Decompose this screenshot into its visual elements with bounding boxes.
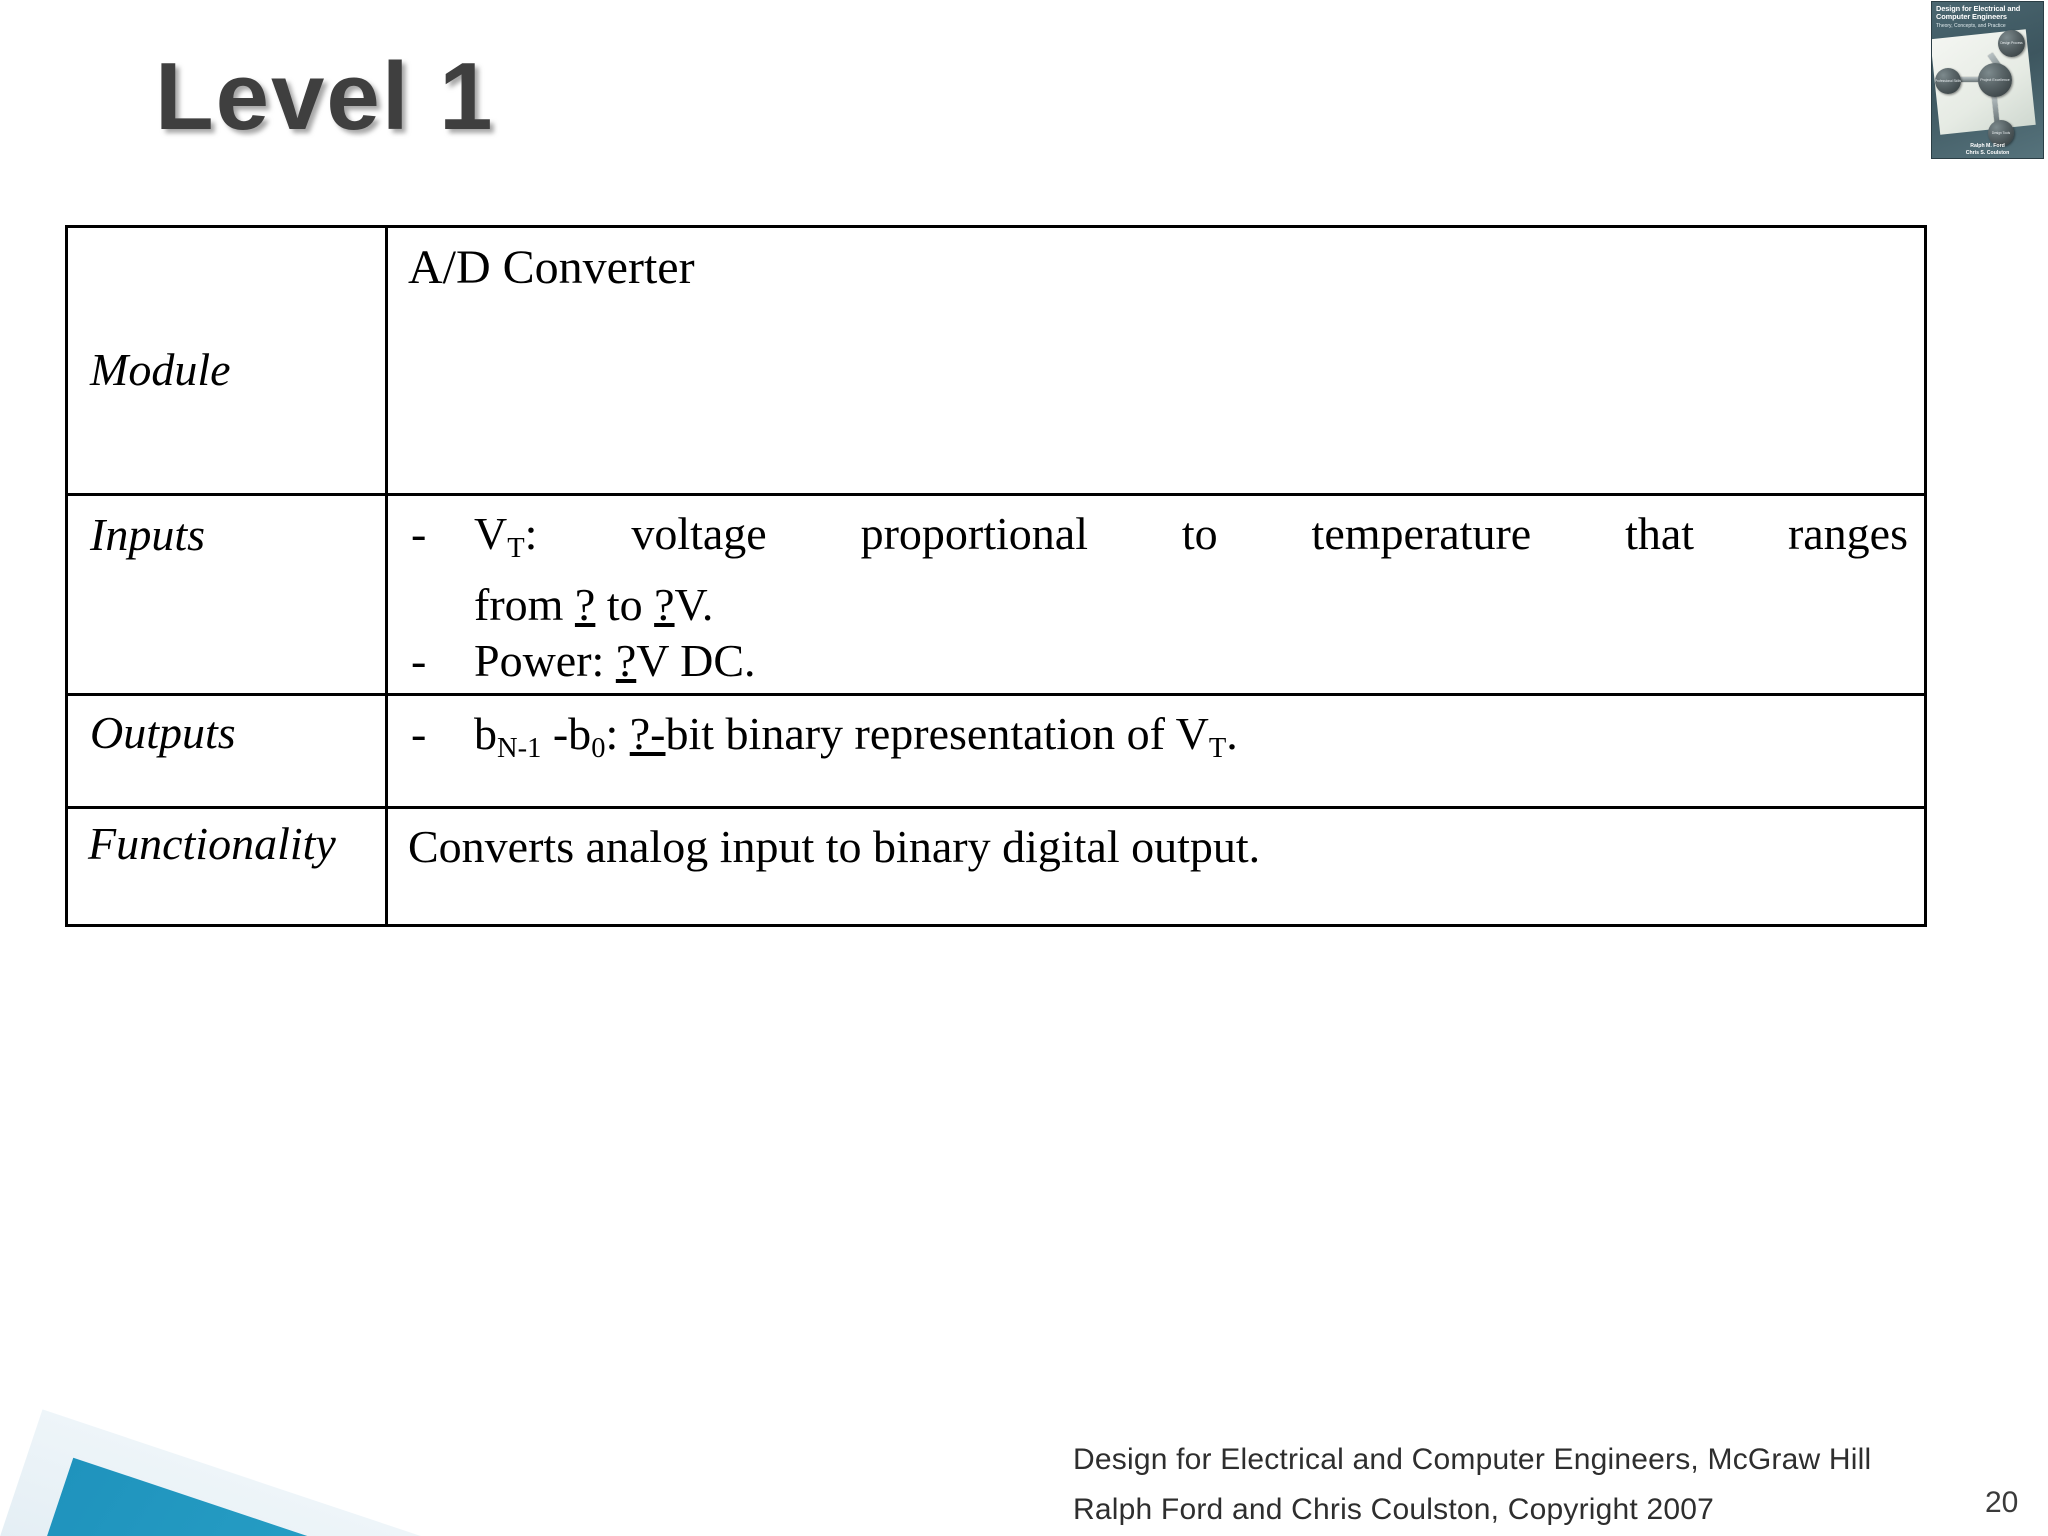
output-msb-symbol: b (474, 708, 497, 759)
list-item: - Power: ?V DC. (408, 633, 1908, 689)
bullet-dash: - (411, 633, 426, 689)
input-range-from: from (474, 579, 575, 630)
inputs-list: - VT: voltage proportional to temperatur… (408, 500, 1908, 689)
output-bitwidth-placeholder: ?- (630, 708, 666, 759)
module-spec-table: Module A/D Converter Inputs - VT: voltag… (65, 225, 1927, 927)
page-title: Level 1 (155, 42, 495, 152)
footer-credit-line-1: Design for Electrical and Computer Engin… (1073, 1435, 1973, 1485)
corner-decoration-graphic (0, 1264, 760, 1536)
functionality-description: Converts analog input to binary digital … (408, 813, 1908, 875)
table-label-module-text: Module (90, 343, 231, 396)
corner-pale-band (0, 1409, 760, 1536)
footer-credit: Design for Electrical and Computer Engin… (1073, 1435, 1973, 1535)
input-vt-line1: VT: voltage proportional to temperature … (474, 506, 1908, 577)
table-label-inputs-text: Inputs (90, 508, 205, 561)
book-cover-node-project-excellence: Project Excellence (1978, 63, 2012, 97)
slide-canvas: Level 1 Design for Electrical and Comput… (0, 0, 2048, 1536)
table-value-inputs: - VT: voltage proportional to temperatur… (387, 495, 1926, 695)
book-cover-thumbnail: Design for Electrical and Computer Engin… (1931, 1, 2044, 159)
input-range-unit: V. (675, 579, 714, 630)
list-item: - bN-1 -b0: ?-bit binary representation … (408, 706, 1908, 777)
table-row-functionality: Functionality Converts analog input to b… (67, 807, 1926, 925)
table-value-functionality: Converts analog input to binary digital … (387, 807, 1926, 925)
output-lsb-subscript: 0 (591, 733, 605, 764)
table-row-module: Module A/D Converter (67, 227, 1926, 495)
book-cover-title: Design for Electrical and Computer Engin… (1936, 5, 2042, 22)
output-description: bit binary representation of V (665, 708, 1208, 759)
corner-teal-triangle (0, 1458, 760, 1536)
bullet-dash: - (411, 706, 426, 762)
output-colon: : (605, 708, 629, 759)
input-power-label: Power: (474, 635, 616, 686)
input-vt-symbol: V (474, 508, 507, 559)
table-label-module: Module (67, 227, 387, 495)
table-label-functionality-text: Functionality (88, 817, 336, 870)
table-label-outputs: Outputs (67, 694, 387, 807)
input-power-unit: V DC. (636, 635, 755, 686)
book-cover-subtitle: Theory, Concepts, and Practice (1936, 23, 2042, 29)
page-number: 20 (1985, 1486, 2018, 1520)
input-vt-subscript: T (507, 533, 524, 564)
book-cover-author-1: Ralph M. Ford (1970, 143, 2005, 149)
module-name: A/D Converter (408, 232, 1908, 296)
table-label-functionality: Functionality (67, 807, 387, 925)
book-cover-node-professional-skills: Professional Skills (1935, 68, 1961, 94)
input-range-min-placeholder: ? (575, 579, 595, 630)
book-cover-node-design-tools: Design Tools (1988, 120, 2014, 146)
input-vt-description: : voltage proportional to temperature th… (525, 508, 1908, 559)
input-range-to: to (595, 579, 654, 630)
input-power-placeholder: ? (616, 635, 636, 686)
input-range-max-placeholder: ? (654, 579, 674, 630)
table-row-outputs: Outputs - bN-1 -b0: ?-bit binary represe… (67, 694, 1926, 807)
bullet-dash: - (411, 506, 426, 562)
output-period: . (1226, 708, 1238, 759)
output-bits-line: bN-1 -b0: ?-bit binary representation of… (474, 706, 1908, 777)
output-lsb-symbol: -b (541, 708, 591, 759)
book-cover-author-2: Chris S. Coulston (1966, 150, 2010, 156)
table-row-inputs: Inputs - VT: voltage proportional to tem… (67, 495, 1926, 695)
output-msb-subscript: N-1 (497, 733, 541, 764)
table-value-outputs: - bN-1 -b0: ?-bit binary representation … (387, 694, 1926, 807)
footer-credit-line-2: Ralph Ford and Chris Coulston, Copyright… (1073, 1485, 1973, 1535)
book-cover-node-design-process: Design Process (1998, 30, 2025, 57)
output-vt-subscript: T (1209, 733, 1226, 764)
list-item: - VT: voltage proportional to temperatur… (408, 506, 1908, 633)
table-label-outputs-text: Outputs (90, 706, 236, 759)
outputs-list: - bN-1 -b0: ?-bit binary representation … (408, 700, 1908, 777)
table-label-inputs: Inputs (67, 495, 387, 695)
input-vt-line2: from ? to ?V. (474, 577, 1908, 633)
table-value-module: A/D Converter (387, 227, 1926, 495)
input-power-line: Power: ?V DC. (474, 633, 1908, 689)
book-cover-authors: Ralph M. Ford Chris S. Coulston (1932, 143, 2043, 156)
